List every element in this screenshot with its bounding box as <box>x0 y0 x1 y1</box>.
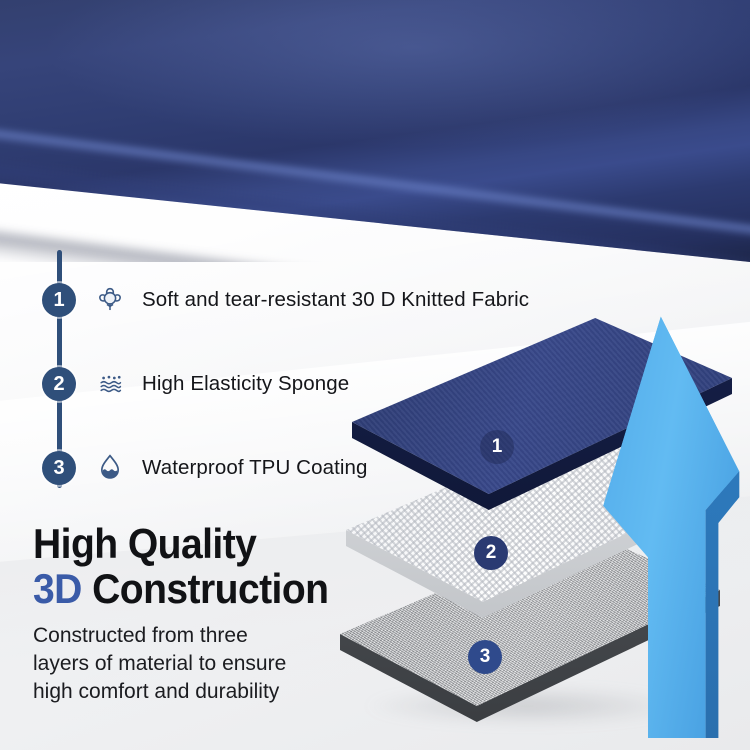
product-photo <box>0 0 750 262</box>
layer-1-number-badge: 1 <box>480 430 514 464</box>
feature-badge-2: 2 <box>42 367 76 401</box>
feature-label-2: High Elasticity Sponge <box>142 372 349 396</box>
product-infographic: 1 Soft and tear-resistant 30 D Knitted F… <box>0 0 750 750</box>
headline-line-2-rest: Construction <box>92 565 328 612</box>
cotton-boll-icon <box>90 280 130 320</box>
feature-badge-1: 1 <box>42 283 76 317</box>
headline-accent-3d: 3D <box>33 565 82 612</box>
product-photo-surface <box>0 0 750 262</box>
feature-label-1: Soft and tear-resistant 30 D Knitted Fab… <box>142 288 529 312</box>
sponge-waves-icon <box>90 364 130 404</box>
layer-2-number-badge: 2 <box>474 536 508 570</box>
water-droplet-icon <box>90 448 130 488</box>
headline-line-2: 3D Construction <box>33 567 386 612</box>
feature-badge-3: 3 <box>42 451 76 485</box>
exploded-three-layer-diagram: 3 2 1 <box>352 318 750 738</box>
upward-breathability-arrow-head <box>584 308 744 738</box>
headline-line-1: High Quality <box>33 522 386 567</box>
layer-3-number-badge: 3 <box>468 640 502 674</box>
arrow-head-shape <box>584 308 744 738</box>
arrow-head-face <box>584 308 744 738</box>
feature-label-3: Waterproof TPU Coating <box>142 456 368 480</box>
